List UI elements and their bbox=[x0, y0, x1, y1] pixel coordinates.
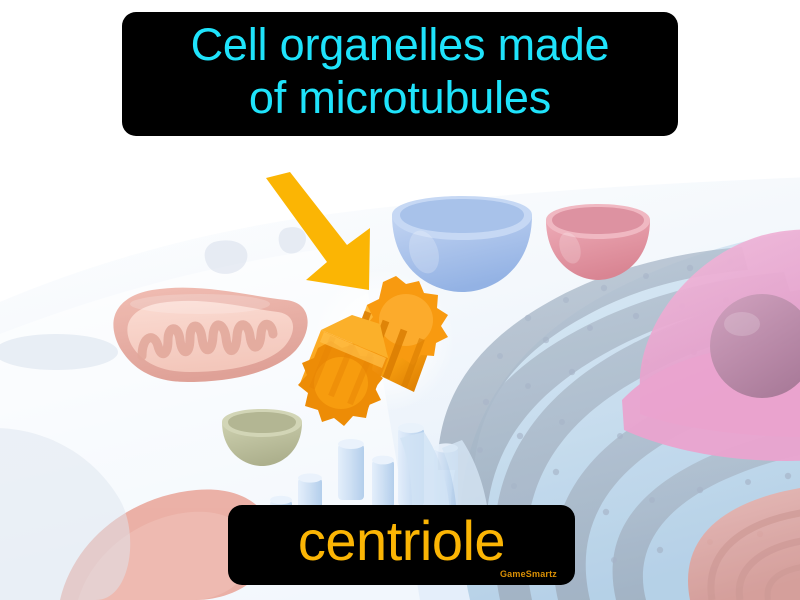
microtubule-cylinder bbox=[372, 456, 394, 508]
question-banner: Cell organelles made of microtubules bbox=[122, 12, 678, 136]
answer-text: centriole bbox=[228, 509, 575, 573]
watermark-label: GameSmartz bbox=[500, 569, 557, 579]
flashcard: Cell organelles made of microtubules cen… bbox=[0, 0, 800, 600]
question-text: Cell organelles made of microtubules bbox=[191, 18, 610, 124]
answer-banner: centriole GameSmartz bbox=[228, 505, 575, 585]
microtubule-cylinder bbox=[338, 439, 364, 500]
